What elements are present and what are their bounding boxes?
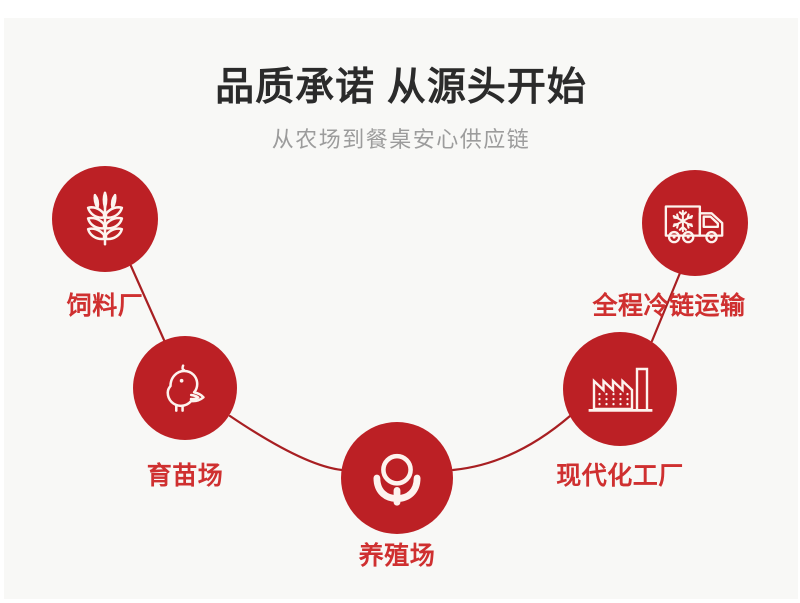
- refrigerated-truck-icon: [661, 193, 729, 253]
- feed-mill-bubble[interactable]: [52, 166, 158, 272]
- factory-icon: [585, 356, 655, 422]
- breeding-farm-bubble[interactable]: [341, 422, 453, 534]
- page-subtitle: 从农场到餐桌安心供应链: [4, 122, 798, 154]
- wheat-icon: [74, 188, 136, 250]
- cold-chain-label: 全程冷链运输: [564, 286, 774, 322]
- modern-factory-bubble[interactable]: [563, 332, 677, 446]
- hatchery-label: 育苗场: [125, 456, 245, 492]
- feed-mill-label: 饲料厂: [45, 286, 165, 322]
- breeding-farm-label: 养殖场: [337, 536, 457, 572]
- infographic-canvas: 品质承诺 从源头开始 从农场到餐桌安心供应链: [4, 18, 798, 599]
- cold-chain-bubble[interactable]: [642, 170, 748, 276]
- connector-hatchery-to-breeding-farm: [230, 416, 342, 470]
- page-title: 品质承诺 从源头开始: [4, 66, 798, 111]
- hatchery-bubble[interactable]: [133, 336, 237, 440]
- infographic-stage: 品质承诺 从源头开始 从农场到餐桌安心供应链: [0, 0, 800, 603]
- hands-holding-icon: [364, 445, 430, 511]
- chick-icon: [154, 357, 216, 419]
- modern-factory-label: 现代化工厂: [545, 456, 695, 492]
- heading-block: 品质承诺 从源头开始 从农场到餐桌安心供应链: [4, 66, 798, 154]
